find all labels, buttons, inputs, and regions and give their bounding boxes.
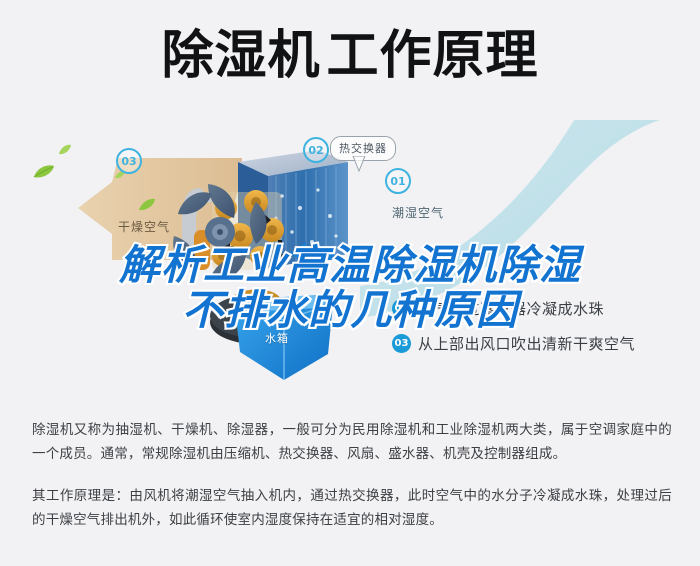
dehumidifier-diagram: 干燥空气: [0, 120, 700, 400]
article-body: 除湿机又称为抽湿机、干燥机、除湿器，一般可分为民用除湿机和工业除湿机两大类，属于…: [32, 418, 672, 550]
step-list: 02 空气经过蒸发器冷凝成水珠 03 从上部出风口吹出清新干爽空气: [392, 298, 692, 368]
diagram-badge-03: 03: [116, 148, 142, 174]
diagram-badge-02: 02: [303, 137, 329, 163]
step-item: 02 空气经过蒸发器冷凝成水珠: [392, 298, 692, 319]
page-title: 除湿机工作原理: [0, 26, 700, 86]
step-text-02: 空气经过蒸发器冷凝成水珠: [418, 298, 604, 319]
leaf-icon: [138, 198, 156, 212]
step-item: 03 从上部出风口吹出清新干爽空气: [392, 333, 692, 354]
step-badge-03: 03: [392, 334, 411, 353]
step-badge-02: 02: [392, 299, 411, 318]
diagram-badge-01: 01: [385, 168, 411, 194]
water-tank-label: 水箱: [265, 330, 289, 346]
air-inlet-arrow-icon: [290, 242, 334, 264]
humid-air-label: 潮湿空气: [392, 204, 444, 221]
callout-tail-icon: [352, 156, 366, 172]
step-text-03: 从上部出风口吹出清新干爽空气: [418, 333, 635, 354]
page-title-part-b: 工作原理: [327, 27, 539, 85]
page-root: 除湿机工作原理: [0, 0, 700, 566]
article-paragraph-2: 其工作原理是：由风机将潮湿空气抽入机内，通过热交换器，此时空气中的水分子冷凝成水…: [32, 484, 672, 532]
leaf-icon: [32, 164, 56, 180]
leaf-icon: [58, 144, 72, 156]
article-paragraph-1: 除湿机又称为抽湿机、干燥机、除湿器，一般可分为民用除湿机和工业除湿机两大类，属于…: [32, 418, 672, 466]
page-title-part-a: 除湿机: [161, 27, 320, 85]
